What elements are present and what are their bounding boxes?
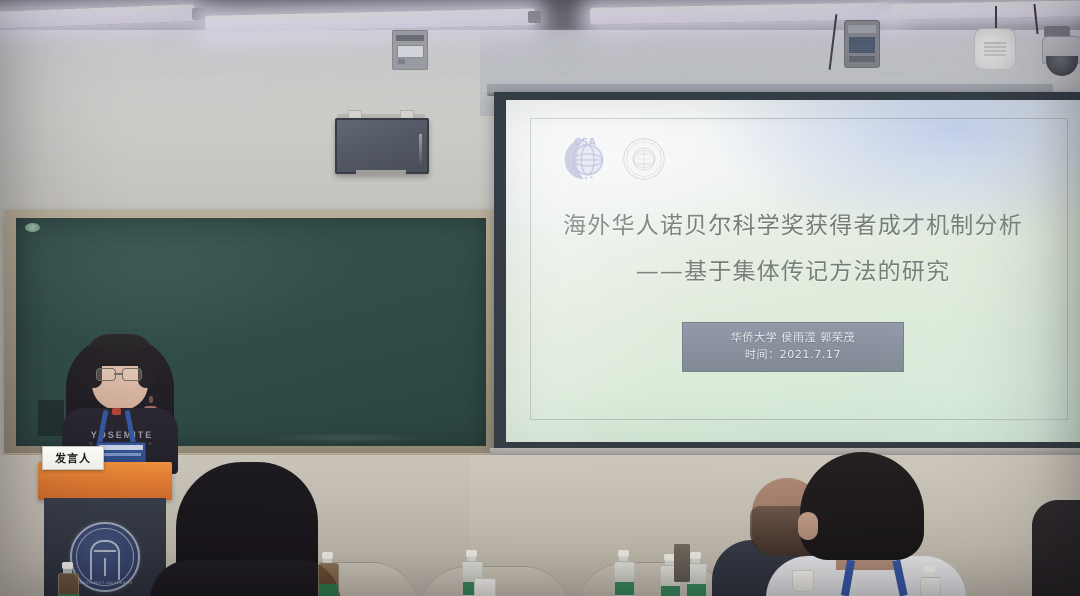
audience-person-far-right (1032, 500, 1080, 596)
control-panel-button[interactable] (398, 59, 405, 64)
speaker-glasses-bridge (114, 373, 122, 375)
slide-title: 海外华人诺贝尔科学奖获得者成才机制分析 (506, 206, 1080, 240)
water-bottle[interactable] (58, 562, 77, 596)
audience-woman-shoulders (150, 560, 340, 596)
conference-photo-scene: CSA 海外华 (0, 0, 1080, 596)
speaker-glasses-left-lens (96, 368, 116, 381)
bottle-body (920, 577, 941, 596)
smoke-detector-grill (984, 41, 1006, 56)
monitor-glare (419, 134, 422, 164)
emblem-gate-bar (94, 550, 116, 552)
paper-cup[interactable] (474, 578, 496, 596)
badge-text-strip (101, 453, 141, 456)
tube-cap-mid (528, 11, 541, 23)
bottle-label (615, 582, 634, 595)
lanyard-knot (112, 408, 121, 415)
podium-nameplate-text: 发言人 (55, 450, 91, 466)
water-bottle[interactable] (614, 550, 633, 594)
smoke-detector-icon (974, 28, 1016, 70)
projection-screen[interactable]: CSA 海外华 (506, 100, 1080, 442)
slide-subtitle: ——基于集体传记方法的研究 (506, 252, 1080, 286)
tube-cap-left (192, 8, 205, 20)
wall-mounted-monitor[interactable] (335, 118, 429, 174)
ceiling-seam (0, 28, 1080, 30)
bottle-label (687, 584, 706, 596)
podium-nameplate: 发言人 (42, 446, 104, 470)
bottle-label (319, 584, 338, 596)
badge-header-strip (99, 445, 143, 450)
microphone-stand[interactable] (674, 544, 690, 582)
bottle-body (318, 563, 339, 596)
amplifier-controls[interactable] (849, 56, 875, 62)
speaker-glasses-right-lens (122, 368, 142, 381)
chalk-smudge (266, 433, 426, 443)
amplifier-strip (848, 25, 876, 33)
audience-man-ear (798, 512, 818, 540)
paper-cup[interactable] (792, 570, 814, 592)
blackboard-corner-sticker-icon (25, 223, 40, 232)
speaker-nose (149, 396, 153, 403)
control-panel-display (397, 45, 424, 58)
slide-date-line: 时间：2021.7.17 (693, 346, 893, 363)
bottle-label (661, 586, 680, 596)
fluorescent-tube-farright-icon (890, 0, 1080, 19)
csa-logo-icon: CSA (562, 136, 608, 182)
emblem-stem (104, 558, 106, 576)
slide-author-box: 华侨大学 侯雨滢 郭荣茂 时间：2021.7.17 (682, 322, 904, 372)
bottle-body (58, 573, 79, 596)
wall-control-panel-icon[interactable] (392, 30, 428, 70)
detector-wire (995, 6, 997, 30)
bottle-body (614, 561, 635, 596)
university-seal-logo-icon (622, 137, 666, 181)
emblem-text: SOUTHWEST UNIVERSITY (72, 581, 138, 585)
water-bottle[interactable] (318, 552, 337, 596)
monitor-base-shadow (356, 170, 406, 175)
svg-text:CSA: CSA (574, 137, 596, 148)
university-emblem-icon: SOUTHWEST UNIVERSITY (70, 522, 140, 592)
water-bottle[interactable] (920, 566, 939, 596)
control-panel-bar (396, 35, 424, 41)
slide-author-line: 华侨大学 侯雨滢 郭荣茂 (693, 329, 893, 346)
wall-amplifier-icon[interactable] (844, 20, 880, 68)
amplifier-screen (849, 37, 875, 53)
slide-logo-group: CSA (562, 136, 666, 182)
